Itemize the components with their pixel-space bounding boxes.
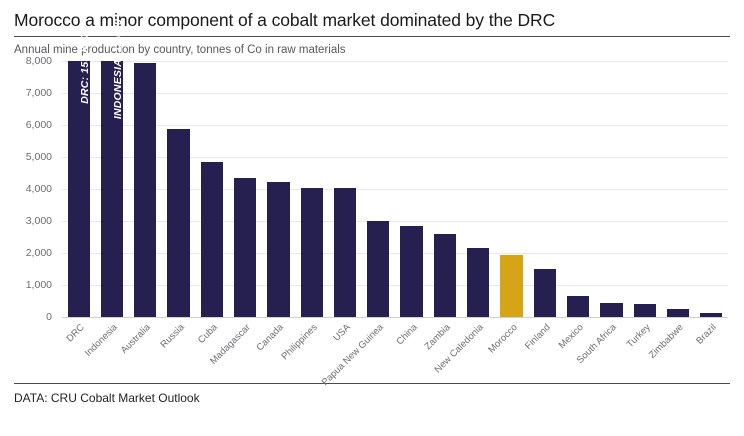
bar[interactable] — [634, 304, 656, 317]
x-axis-tick-label: USA — [331, 322, 353, 344]
x-axis-label-slot: Papua New Guinea — [362, 319, 395, 381]
y-axis-tick-label: 6,000 — [26, 119, 52, 131]
bar-value-annotation: DRC: 153,810 — [79, 34, 91, 104]
bar[interactable] — [700, 313, 722, 317]
bar-slot — [661, 61, 694, 317]
bar-slot — [628, 61, 661, 317]
x-axis-label-slot: Morocco — [495, 319, 528, 381]
bar[interactable] — [567, 296, 589, 317]
x-axis-label-slot: Philippines — [295, 319, 328, 381]
bar-slot: INDONESIA: 17,039 — [95, 61, 128, 317]
data-source: DATA: CRU Cobalt Market Outlook — [14, 384, 730, 405]
bar[interactable] — [334, 188, 356, 317]
x-axis-label-slot: Madagascar — [228, 319, 261, 381]
bar[interactable] — [500, 255, 522, 317]
x-axis-label-slot: Brazil — [695, 319, 728, 381]
bar-slot — [695, 61, 728, 317]
x-axis-category-labels: DRCIndonesiaAustraliaRussiaCubaMadagasca… — [62, 319, 728, 381]
bar-slot — [528, 61, 561, 317]
x-axis-tick-label: Russia — [158, 322, 186, 350]
x-axis-label-slot: Australia — [129, 319, 162, 381]
bar-slot — [262, 61, 295, 317]
bar[interactable] — [201, 162, 223, 317]
bar-slot — [228, 61, 261, 317]
y-axis-tick-label: 7,000 — [26, 87, 52, 99]
bar[interactable] — [234, 178, 256, 318]
bar[interactable] — [600, 303, 622, 317]
bar-slot — [428, 61, 461, 317]
x-axis-label-slot: Finland — [528, 319, 561, 381]
x-axis-tick-label: Cuba — [196, 322, 220, 346]
bar[interactable] — [167, 129, 189, 317]
bar-slot — [195, 61, 228, 317]
bar-slot — [295, 61, 328, 317]
bar-slot — [395, 61, 428, 317]
bar[interactable] — [134, 63, 156, 317]
y-axis-tick-label: 1,000 — [26, 279, 52, 291]
gridline — [62, 317, 728, 318]
bar-value-annotation: INDONESIA: 17,039 — [112, 19, 124, 119]
bar[interactable]: INDONESIA: 17,039 — [101, 61, 123, 317]
y-axis-tick-label: 4,000 — [26, 183, 52, 195]
x-axis-label-slot: Zimbabwe — [661, 319, 694, 381]
bar[interactable]: DRC: 153,810 — [68, 61, 90, 317]
x-axis-tick-label: Mexico — [557, 322, 586, 351]
bar[interactable] — [467, 248, 489, 317]
bar-slot — [162, 61, 195, 317]
x-axis-tick-label: Finland — [523, 322, 553, 352]
bar[interactable] — [534, 269, 556, 317]
bar[interactable] — [434, 234, 456, 318]
x-axis-label-slot: South Africa — [595, 319, 628, 381]
x-axis-tick-label: China — [394, 322, 419, 347]
bar-slot — [561, 61, 594, 317]
y-axis-tick-labels: 8,0007,0006,0005,0004,0003,0002,0001,000… — [14, 61, 58, 317]
bar-slot — [495, 61, 528, 317]
bar[interactable] — [367, 221, 389, 317]
y-axis-tick-label: 8,000 — [26, 55, 52, 67]
bar-slot — [595, 61, 628, 317]
y-axis-tick-label: 2,000 — [26, 247, 52, 259]
y-axis-tick-label: 3,000 — [26, 215, 52, 227]
y-axis-tick-label: 0 — [46, 311, 52, 323]
bar[interactable] — [301, 188, 323, 317]
bar-slot — [362, 61, 395, 317]
bar[interactable] — [400, 226, 422, 317]
bar-series: DRC: 153,810INDONESIA: 17,039 — [62, 61, 728, 317]
bar-chart: 8,0007,0006,0005,0004,0003,0002,0001,000… — [14, 61, 730, 323]
bar-slot — [328, 61, 361, 317]
bar-slot — [129, 61, 162, 317]
chart-plot-area: 8,0007,0006,0005,0004,0003,0002,0001,000… — [14, 61, 730, 381]
bar-slot — [462, 61, 495, 317]
y-axis-tick-label: 5,000 — [26, 151, 52, 163]
x-axis-tick-label: Brazil — [694, 322, 719, 347]
x-axis-label-slot: China — [395, 319, 428, 381]
chart-page: Morocco a minor component of a cobalt ma… — [0, 0, 744, 436]
x-axis-tick-label: Turkey — [624, 322, 652, 350]
x-axis-label-slot: Russia — [162, 319, 195, 381]
bar[interactable] — [267, 182, 289, 317]
x-axis-tick-label: DRC — [64, 322, 86, 344]
bar-slot: DRC: 153,810 — [62, 61, 95, 317]
bar[interactable] — [667, 309, 689, 317]
plot-grid-area: DRC: 153,810INDONESIA: 17,039 — [62, 61, 728, 317]
